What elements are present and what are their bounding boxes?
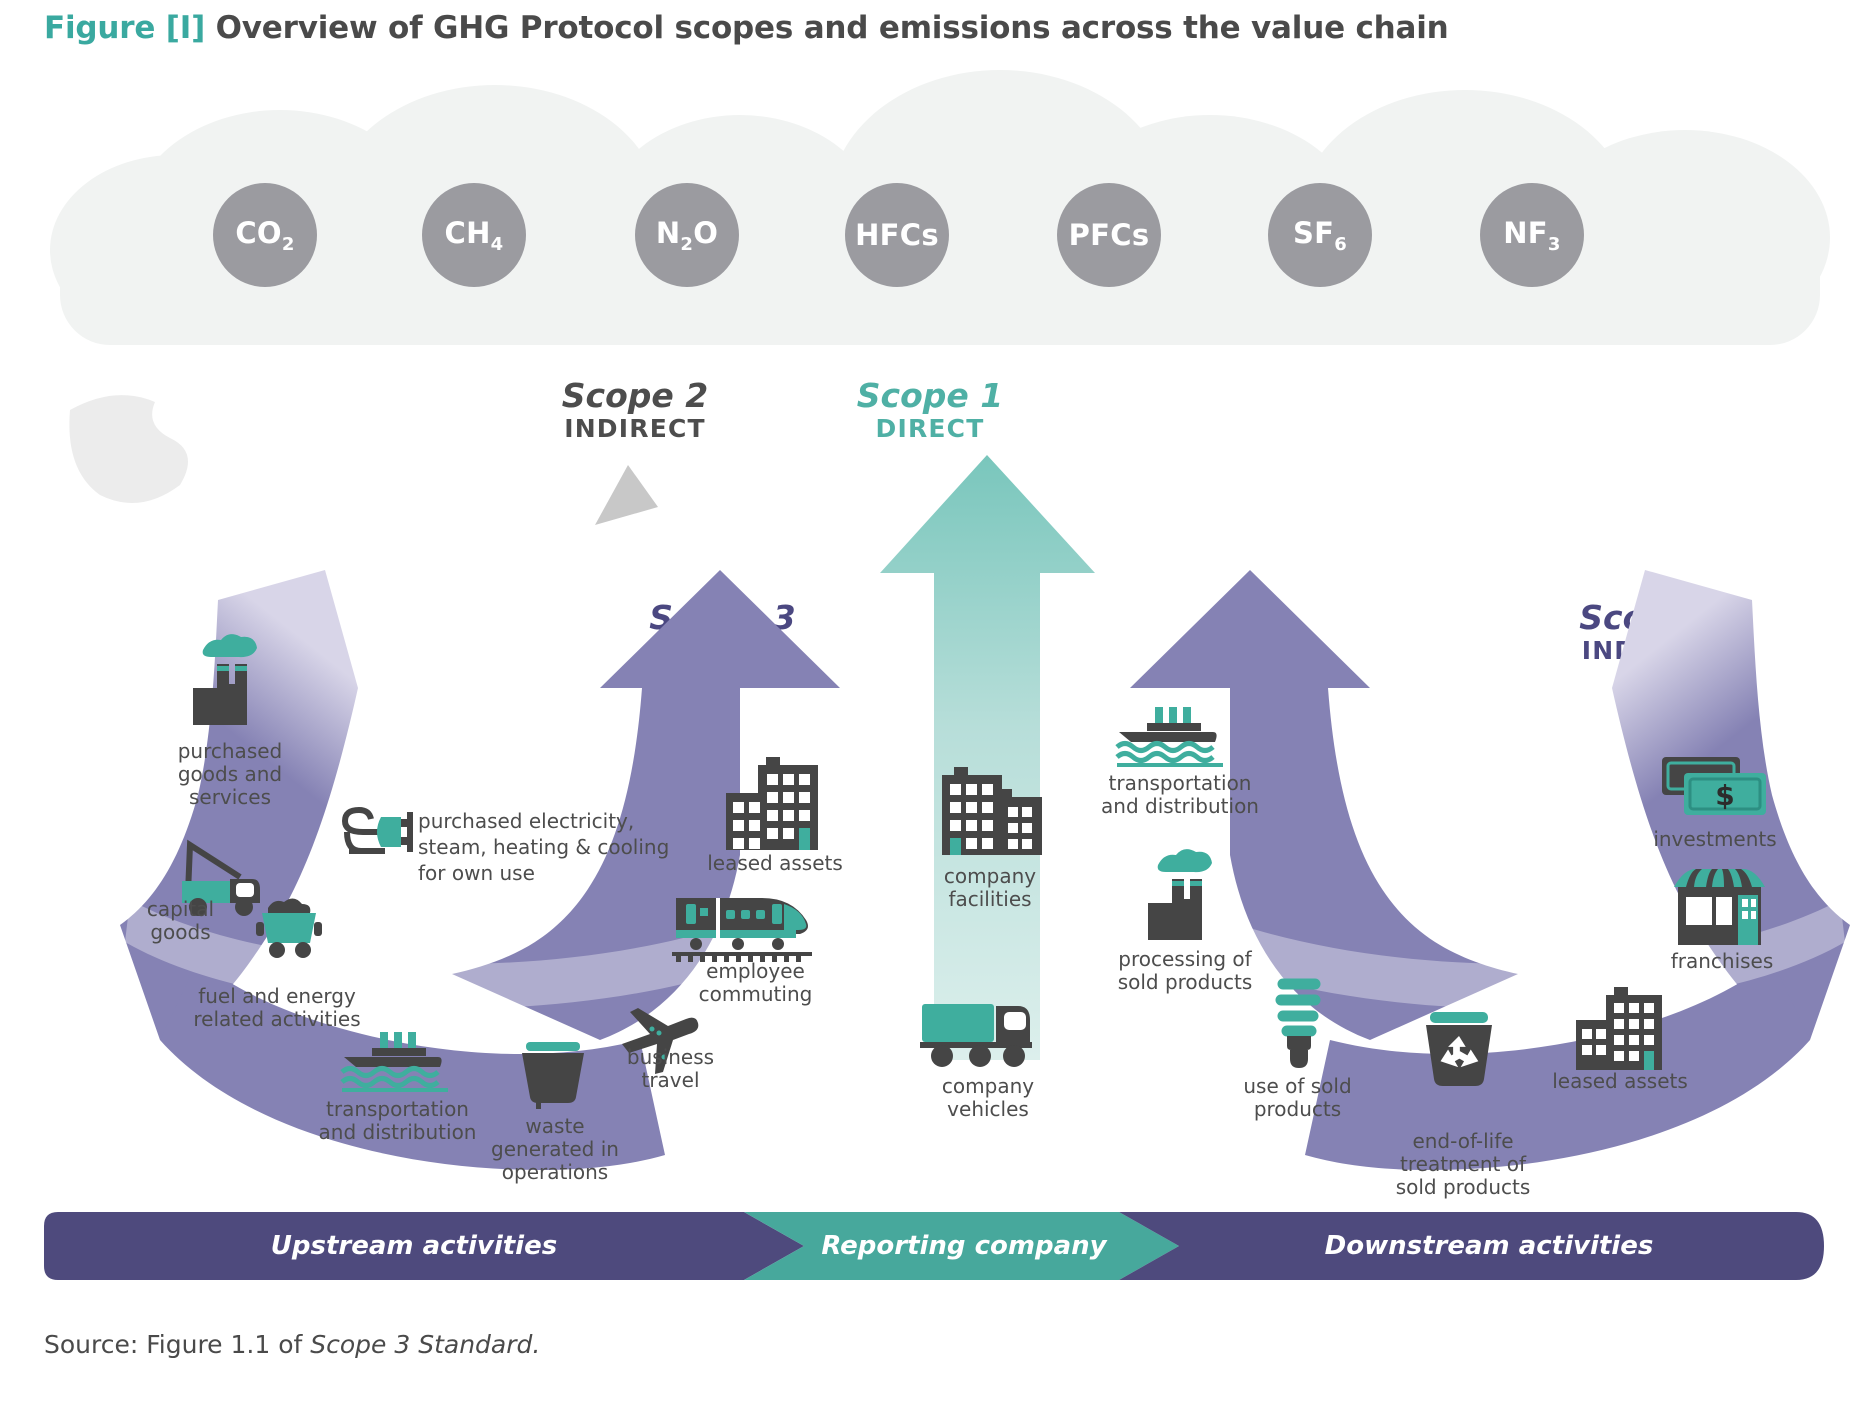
upstream-business-travel-label: business travel: [608, 1046, 733, 1092]
company-facilities-label: company facilities: [920, 865, 1060, 911]
gas-label: CH4: [445, 216, 504, 255]
upstream-waste-label: waste generated in operations: [490, 1115, 620, 1185]
scope-2-title: Scope 2: [505, 378, 765, 415]
banner-downstream-label: Downstream activities: [1154, 1212, 1824, 1280]
downstream-transportation-label: transportation and distribution: [1100, 772, 1260, 818]
plug-icon: [335, 806, 431, 858]
downstream-use-of-sold-label: use of sold products: [1225, 1075, 1370, 1121]
upstream-leased-assets-label: leased assets: [700, 852, 850, 875]
upstream-fuel-energy-label: fuel and energy related activities: [182, 985, 372, 1031]
scope-1-title: Scope 1: [800, 378, 1060, 415]
money-icon: $: [1660, 755, 1770, 817]
source-note: Source: Figure 1.1 of Scope 3 Standard.: [44, 1330, 540, 1359]
title-text: Overview of GHG Protocol scopes and emis…: [205, 10, 1449, 46]
gas-circle-co2: CO2: [213, 183, 317, 287]
scope-2-arrow: [590, 465, 670, 535]
scope-2-label: Scope 2 INDIRECT: [505, 378, 765, 443]
gas-label: SF6: [1293, 216, 1347, 255]
company-vehicles-label: company vehicles: [918, 1075, 1058, 1121]
source-prefix: Source: Figure 1.1 of: [44, 1330, 310, 1359]
scope-1-subtitle: DIRECT: [800, 415, 1060, 443]
gas-circle-nf3: NF3: [1480, 183, 1584, 287]
scope-1-label: Scope 1 DIRECT: [800, 378, 1060, 443]
office-building-icon: [1570, 985, 1670, 1070]
gas-circle-sf6: SF6: [1268, 183, 1372, 287]
gas-circle-pfcs: PFCs: [1057, 183, 1161, 287]
waste-bin-icon: [512, 1040, 594, 1110]
upstream-employee-commuting-label: employee commuting: [688, 960, 823, 1006]
gas-label: CO2: [235, 216, 294, 255]
banner-reporting-label: Reporting company: [784, 1212, 1144, 1280]
downstream-investments-label: investments: [1640, 828, 1790, 851]
value-chain-banner: Upstream activities Reporting company Do…: [44, 1212, 1824, 1280]
banner-upstream-label: Upstream activities: [44, 1212, 784, 1280]
downstream-leased-assets-label: leased assets: [1545, 1070, 1695, 1093]
figure-label: Figure [I]: [44, 10, 205, 46]
upstream-capital-goods-label: capital goods: [118, 898, 243, 944]
scope-2-electricity-label: purchased electricity, steam, heating & …: [418, 808, 698, 886]
coal-wagon-icon: [250, 892, 328, 964]
gas-label: N2O: [656, 216, 718, 255]
downstream-end-of-life-label: end-of-life treatment of sold products: [1378, 1130, 1548, 1200]
gas-label: NF3: [1503, 216, 1561, 255]
downstream-franchises-label: franchises: [1652, 950, 1792, 973]
page-title: Figure [I] Overview of GHG Protocol scop…: [44, 10, 1449, 46]
train-icon: [672, 890, 812, 962]
downstream-processing-label: processing of sold products: [1110, 948, 1260, 994]
source-italic: Scope 3 Standard.: [310, 1330, 540, 1359]
gas-circle-hfcs: HFCs: [845, 183, 949, 287]
scope-2-subtitle: INDIRECT: [505, 415, 765, 443]
lightbulb-icon: [1265, 970, 1335, 1070]
gas-label: HFCs: [855, 218, 939, 252]
gas-circle-n2o: N2O: [635, 183, 739, 287]
upstream-purchased-goods-label: purchased goods and services: [150, 740, 310, 810]
cloud-puff-small: [60, 390, 220, 520]
ship-icon: [340, 1030, 450, 1092]
factory-icon: [185, 630, 275, 725]
gas-circle-ch4: CH4: [422, 183, 526, 287]
svg-text:$: $: [1715, 779, 1734, 812]
company-vehicles-icon: [918, 1000, 1038, 1068]
scope-1-arrow: [880, 455, 1095, 1060]
recycle-bin-icon: [1418, 1010, 1500, 1090]
gas-label: PFCs: [1069, 218, 1150, 252]
storefront-icon: [1672, 865, 1767, 947]
ship-icon: [1115, 705, 1225, 767]
company-facilities-icon: [932, 765, 1047, 855]
upstream-transportation-label: transportation and distribution: [310, 1098, 485, 1144]
office-building-icon: [718, 755, 828, 850]
factory-icon: [1140, 845, 1230, 940]
